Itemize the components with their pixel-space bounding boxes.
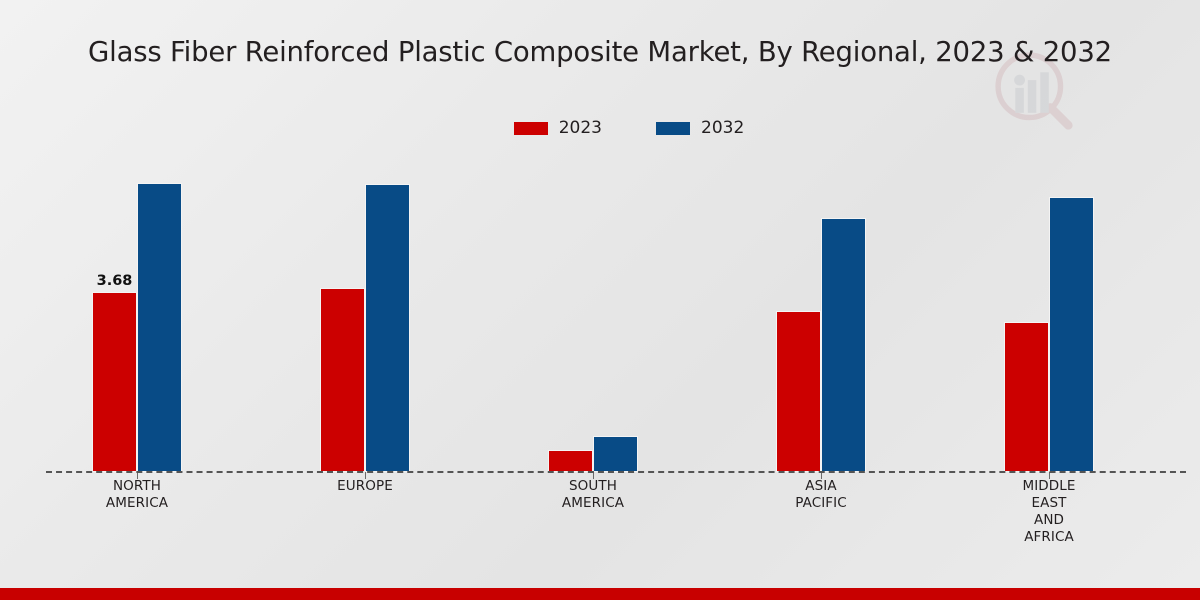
bar-group: [776, 150, 866, 472]
x-axis-category-label: ASIAPACIFIC: [751, 478, 891, 512]
bar-group: [1004, 150, 1094, 472]
category-label-line: SOUTH: [523, 478, 663, 495]
footer-accent-band: [0, 588, 1200, 600]
category-label-line: EAST: [979, 495, 1119, 512]
bar-2023-5[interactable]: [1004, 322, 1049, 472]
x-axis-category-label: NORTHAMERICA: [67, 478, 207, 512]
bar-2023-3[interactable]: [548, 450, 593, 472]
x-axis-category-label: EUROPE: [295, 478, 435, 495]
bar-2032-4[interactable]: [821, 218, 866, 472]
chart-legend: 2023 2032: [0, 118, 1200, 138]
category-label-line: AND: [979, 512, 1119, 529]
category-label-line: EUROPE: [295, 478, 435, 495]
bar-2023-1[interactable]: [92, 292, 137, 472]
bar-2032-5[interactable]: [1049, 197, 1094, 472]
bar-value-label: 3.68: [92, 273, 137, 289]
chart-figure: Glass Fiber Reinforced Plastic Composite…: [0, 0, 1200, 600]
legend-swatch-2023: [514, 122, 548, 135]
category-label-line: AFRICA: [979, 529, 1119, 546]
x-axis-category-label: SOUTHAMERICA: [523, 478, 663, 512]
bar-2023-2[interactable]: [320, 288, 365, 472]
category-label-line: AMERICA: [67, 495, 207, 512]
bar-2032-3[interactable]: [593, 436, 638, 472]
x-axis-category-label: MIDDLEEASTANDAFRICA: [979, 478, 1119, 546]
category-label-line: NORTH: [67, 478, 207, 495]
chart-title: Glass Fiber Reinforced Plastic Composite…: [0, 36, 1200, 68]
plot-area: 3.68: [46, 150, 1186, 472]
legend-item-2032[interactable]: 2032: [656, 118, 744, 138]
bar-2032-2[interactable]: [365, 184, 410, 472]
bar-2032-1[interactable]: [137, 183, 182, 472]
category-label-line: ASIA: [751, 478, 891, 495]
legend-item-2023[interactable]: 2023: [514, 118, 602, 138]
bar-group: [320, 150, 410, 472]
category-label-line: MIDDLE: [979, 478, 1119, 495]
bar-group: [548, 150, 638, 472]
category-label-line: AMERICA: [523, 495, 663, 512]
legend-label-2032: 2032: [701, 118, 744, 138]
category-label-line: PACIFIC: [751, 495, 891, 512]
legend-label-2023: 2023: [559, 118, 602, 138]
bar-2023-4[interactable]: [776, 311, 821, 472]
x-axis-baseline: [46, 471, 1186, 473]
legend-swatch-2032: [656, 122, 690, 135]
bar-group: 3.68: [92, 150, 182, 472]
